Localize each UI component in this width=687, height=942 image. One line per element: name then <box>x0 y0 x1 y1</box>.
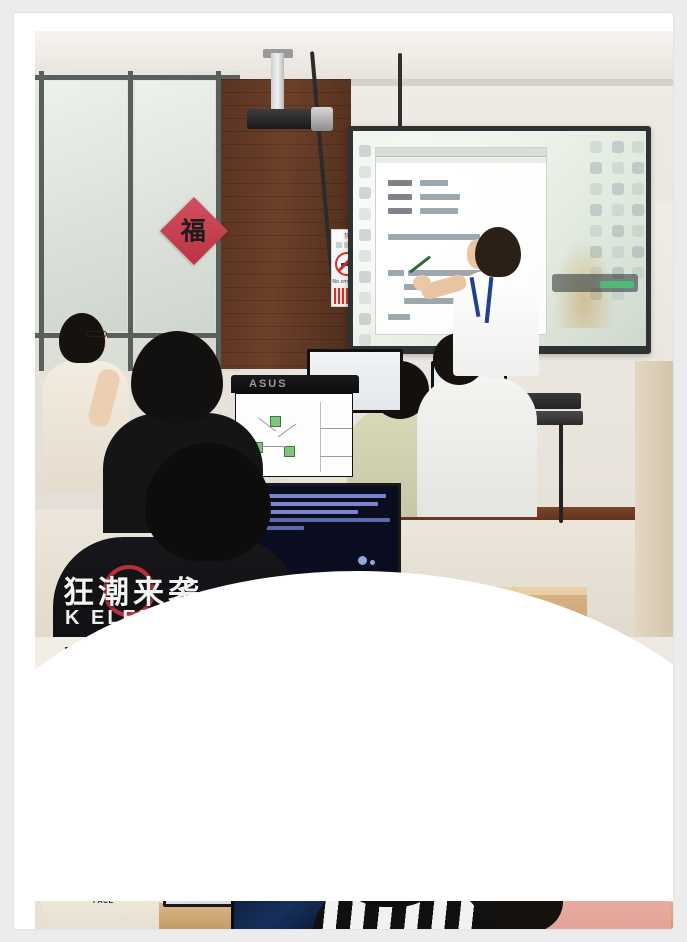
window-mullion <box>128 71 133 371</box>
curved-divider <box>35 571 673 901</box>
teacher-body <box>453 271 539 376</box>
fu-glyph: 福 <box>181 218 206 243</box>
student-head <box>59 313 105 363</box>
wall-pillar <box>635 361 673 671</box>
photo-stack: 福 禁 No smoking <box>35 31 673 929</box>
eyeglasses-icon <box>87 331 107 337</box>
window-mullion <box>39 71 44 371</box>
photo-card-frame: 福 禁 No smoking <box>14 13 673 929</box>
asus-laptop-lid: ASUS <box>231 375 359 393</box>
desktop-icon-column <box>359 145 371 346</box>
teacher-head <box>475 227 521 277</box>
student-white-shirt <box>417 377 537 517</box>
glass-pane <box>43 81 127 331</box>
projector-icon <box>247 109 319 129</box>
editor-menu-bar <box>376 157 546 163</box>
collage-page: 福 禁 No smoking <box>0 0 687 942</box>
teacher-hand <box>413 275 431 291</box>
projector-pole <box>271 53 284 111</box>
desktop-icon-column <box>632 141 644 279</box>
editor-title-bar <box>376 148 546 157</box>
asus-logo: ASUS <box>249 378 288 390</box>
projector-lens-icon <box>311 107 333 131</box>
cable <box>559 423 563 523</box>
taskbar-progress <box>600 281 634 288</box>
window-rail <box>35 75 240 80</box>
